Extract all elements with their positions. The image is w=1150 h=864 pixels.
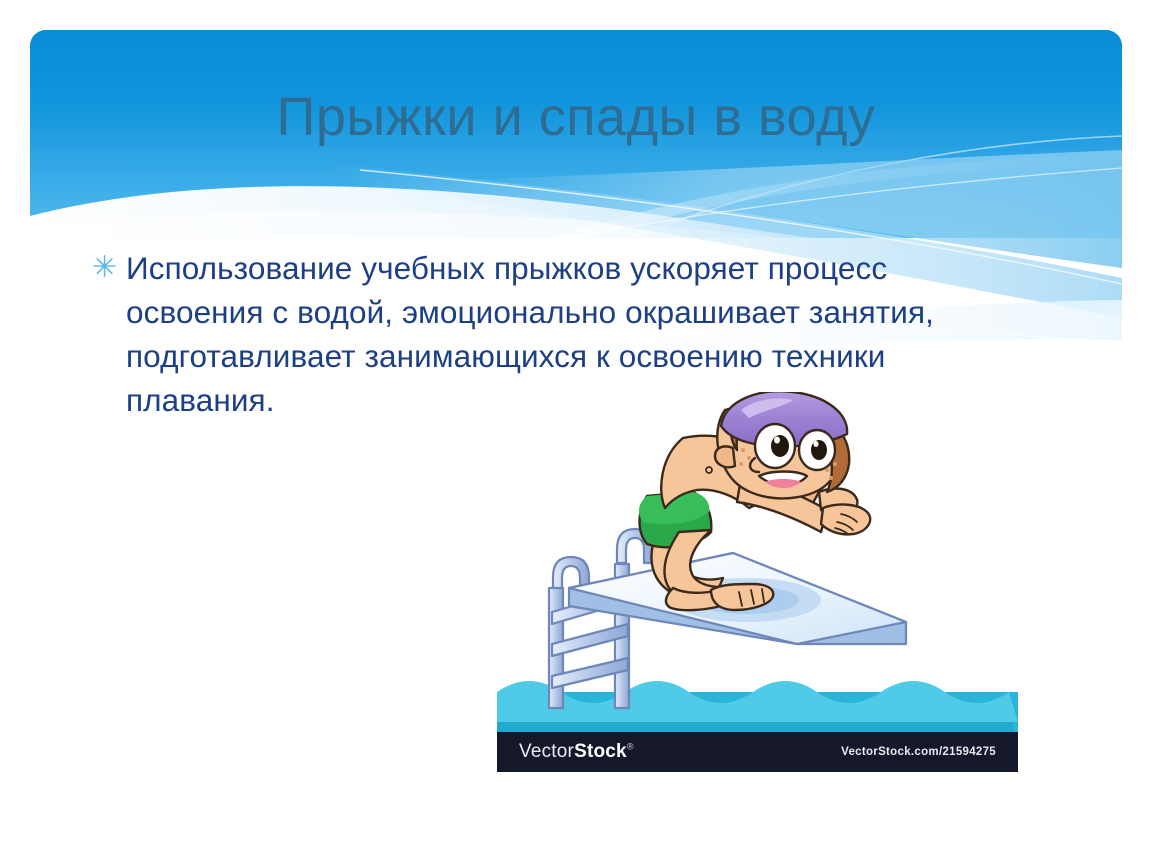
bullet-list: ✳ Использование учебных прыжков ускоряет… <box>92 246 1022 422</box>
vectorstock-watermark-bar: VectorStock® VectorStock.com/21594275 <box>497 732 1018 772</box>
vectorstock-logo: VectorStock® <box>519 741 634 763</box>
bullet-paragraph: Использование учебных прыжков ускоряет п… <box>126 246 1022 422</box>
diving-boy-illustration: VectorStock® VectorStock.com/21594275 <box>497 392 1018 772</box>
slide-title: Прыжки и спады в воду <box>30 86 1122 148</box>
vectorstock-brand-thin: Vector <box>519 741 574 762</box>
asterisk-bullet-icon: ✳ <box>92 246 126 290</box>
presentation-slide: Прыжки и спады в воду ✳ Использование уч… <box>0 0 1150 864</box>
diving-boy-artwork <box>497 392 1018 772</box>
registered-mark-icon: ® <box>627 742 634 752</box>
vectorstock-brand-bold: Stock <box>574 741 627 762</box>
vectorstock-url: VectorStock.com/21594275 <box>841 746 996 758</box>
